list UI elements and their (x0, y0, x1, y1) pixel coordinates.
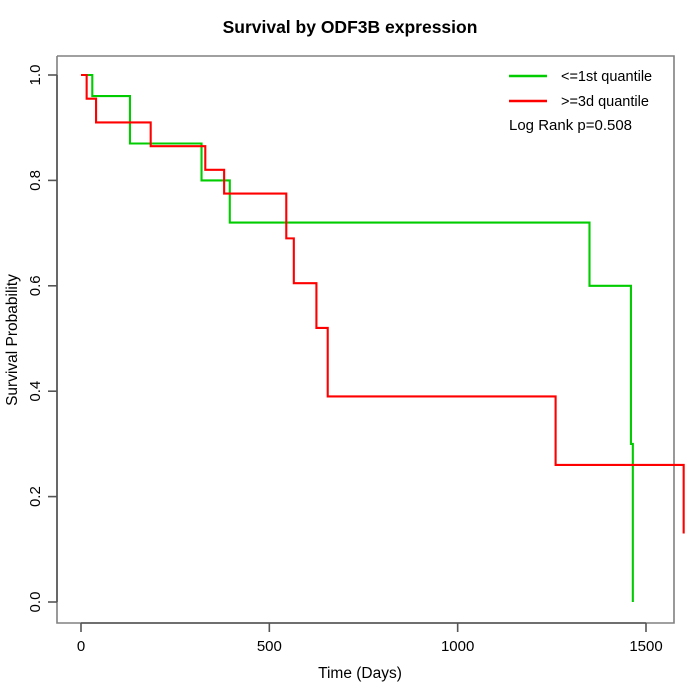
x-axis-title: Time (Days) (318, 665, 402, 682)
page-title: Survival by ODF3B expression (223, 17, 478, 37)
legend-label: >=3d quantile (561, 94, 649, 110)
y-axis: 0.00.20.40.60.81.0 (27, 65, 57, 613)
log-rank-pvalue: Log Rank p=0.508 (509, 117, 632, 134)
x-tick-label: 1000 (441, 638, 474, 655)
x-tick-label: 500 (257, 638, 282, 655)
y-tick-label: 0.4 (27, 381, 44, 402)
y-axis-title: Survival Probability (4, 274, 21, 406)
y-tick-label: 0.2 (27, 486, 44, 507)
survival-chart-svg: 0.00.20.40.60.81.0 050010001500 <=1st qu… (0, 0, 700, 700)
x-axis: 050010001500 (77, 623, 663, 655)
survival-plot-root: 0.00.20.40.60.81.0 050010001500 <=1st qu… (0, 0, 700, 700)
km-curve-low-quantile (81, 75, 633, 602)
x-tick-label: 0 (77, 638, 85, 655)
plot-frame (57, 56, 674, 623)
y-tick-label: 0.0 (27, 592, 44, 613)
chart-legend: <=1st quantile>=3d quantileLog Rank p=0.… (509, 69, 652, 134)
y-tick-label: 0.6 (27, 275, 44, 296)
x-tick-label: 1500 (629, 638, 662, 655)
legend-label: <=1st quantile (561, 69, 652, 85)
y-tick-label: 1.0 (27, 65, 44, 86)
y-tick-label: 0.8 (27, 170, 44, 191)
km-curves (81, 75, 684, 602)
